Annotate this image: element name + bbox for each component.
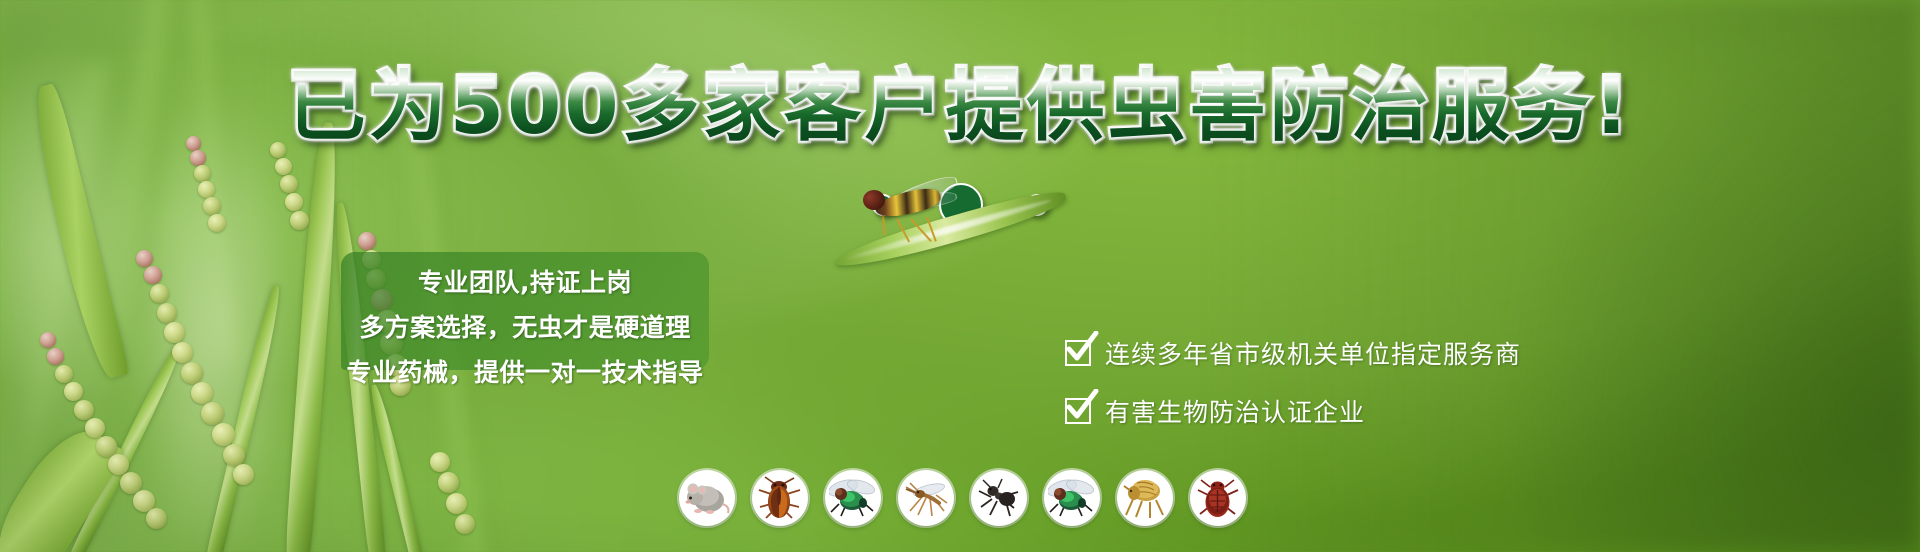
ant-icon[interactable] (971, 470, 1027, 526)
checkbox-checked-icon (1065, 340, 1091, 366)
feature-panel: 专业团队,持证上岗 多方案选择，无虫才是硬道理 专业药械，提供一对一技术指导 (341, 252, 709, 370)
checklist-item: 连续多年省市级机关单位指定服务商 (1065, 335, 1521, 371)
checklist-item-label: 有害生物防治认证企业 (1105, 393, 1365, 429)
checklist: 连续多年省市级机关单位指定服务商 有害生物防治认证企业 (1065, 335, 1521, 451)
feature-panel-line-3: 专业药械，提供一对一技术指导 (341, 353, 709, 389)
feature-panel-line-1: 专业团队,持证上岗 (341, 263, 709, 299)
hoverfly-on-leaf-icon (835, 188, 1085, 298)
fly-icon[interactable] (825, 470, 881, 526)
checklist-item: 有害生物防治认证企业 (1065, 393, 1521, 429)
mouse-icon[interactable] (679, 470, 735, 526)
pest-icon-row (679, 470, 1246, 526)
feature-panel-line-2: 多方案选择，无虫才是硬道理 (341, 308, 709, 344)
bedbug-icon[interactable] (1190, 470, 1246, 526)
checklist-item-label: 连续多年省市级机关单位指定服务商 (1105, 335, 1521, 371)
mosquito-icon[interactable] (898, 470, 954, 526)
flea-icon[interactable] (1117, 470, 1173, 526)
checkbox-checked-icon (1065, 398, 1091, 424)
pest-control-hero-banner: 已为500多家客户提供虫害防治服务! 已为500多家客户提供虫害防治服务! 专业… (0, 0, 1920, 552)
page-title: 已为500多家客户提供虫害防治服务! (0, 68, 1920, 146)
fly-leg (882, 215, 886, 235)
fly-green-icon[interactable] (1044, 470, 1100, 526)
fly-head (863, 190, 885, 210)
cockroach-icon[interactable] (752, 470, 808, 526)
